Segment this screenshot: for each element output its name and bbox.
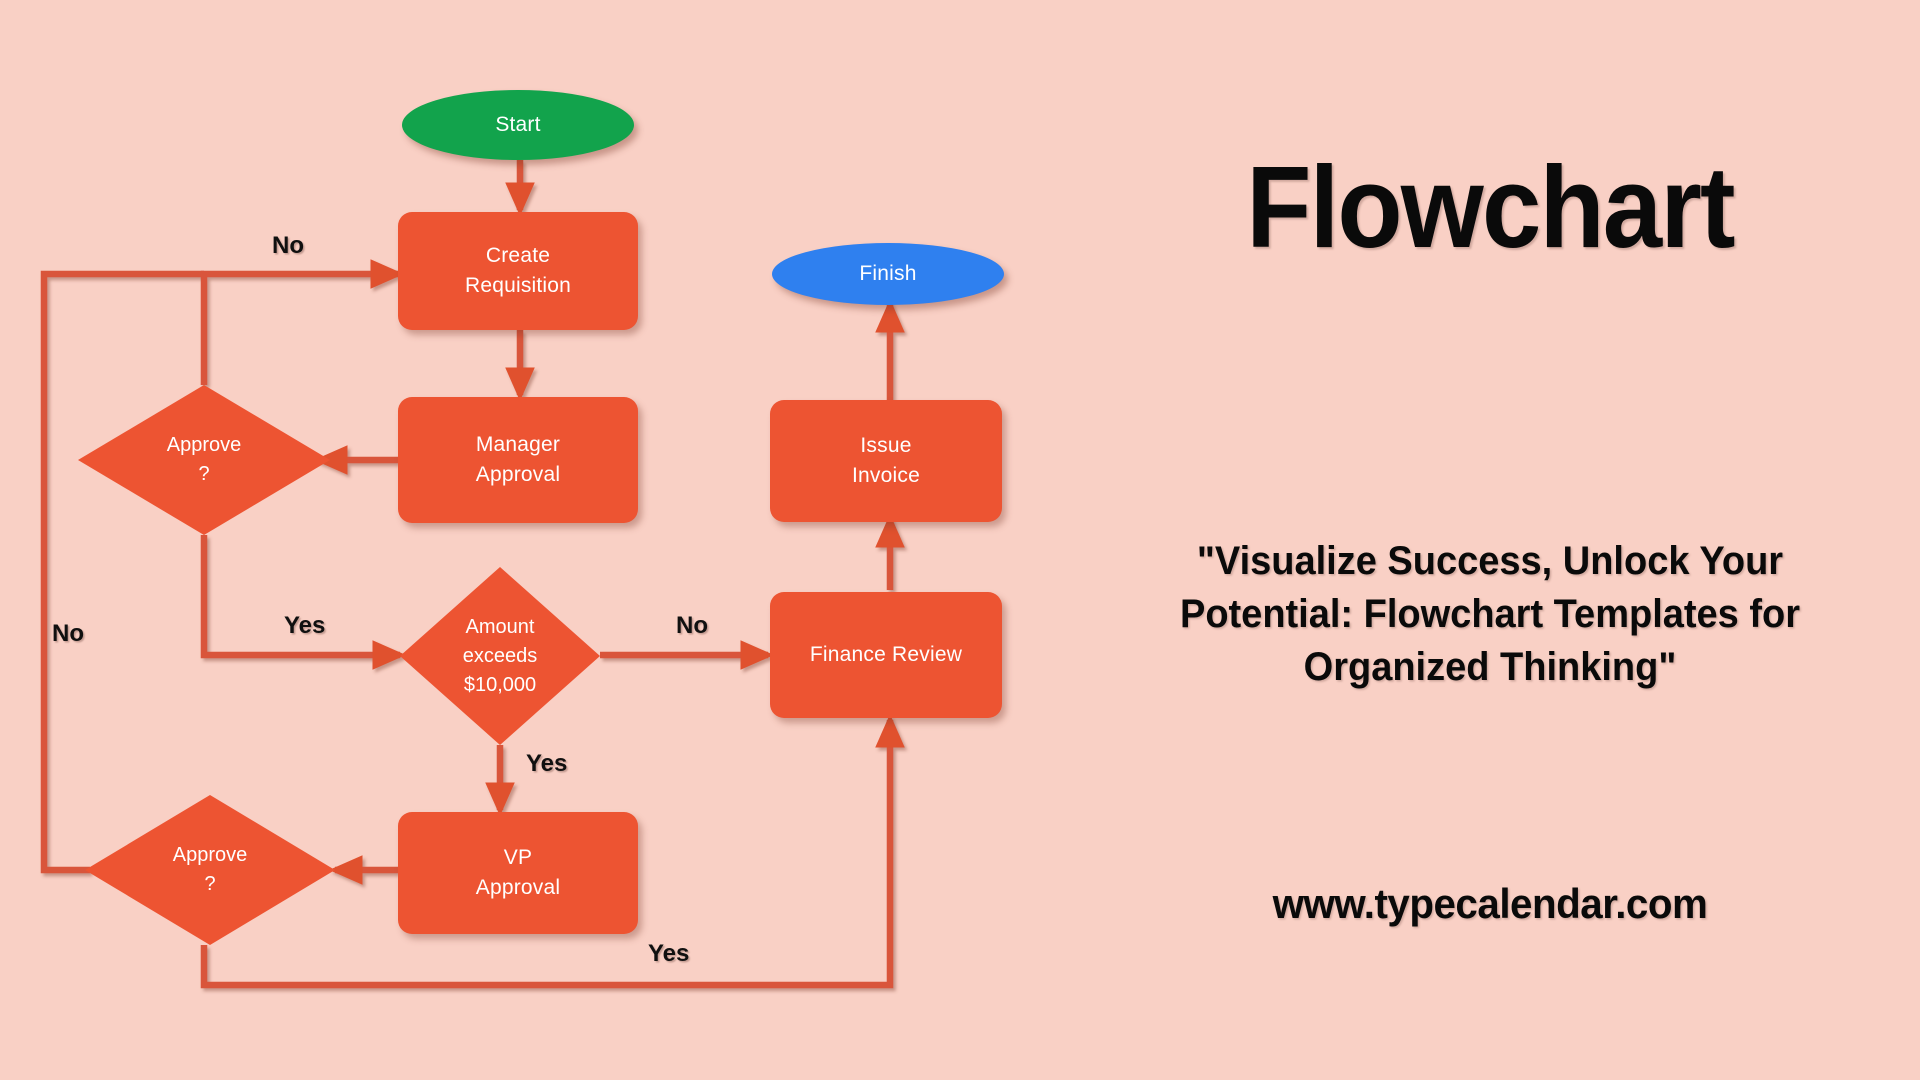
- page-title: Flowchart: [1094, 140, 1885, 274]
- poster-text-panel: Flowchart "Visualize Success, Unlock You…: [1060, 0, 1920, 1080]
- node-manager-approval[interactable]: Manager Approval: [398, 397, 638, 523]
- node-approve-decision-2-label: Approve ?: [85, 795, 335, 945]
- node-issue-invoice[interactable]: Issue Invoice: [770, 400, 1002, 522]
- edge-label-approve1-no: No: [272, 232, 304, 260]
- node-finance-review[interactable]: Finance Review: [770, 592, 1002, 718]
- node-approve-decision-1[interactable]: Approve ?: [78, 385, 330, 535]
- edge-label-amount-yes: Yes: [526, 750, 567, 778]
- edge-label-amount-no: No: [676, 612, 708, 640]
- website-url: www.typecalendar.com: [1077, 880, 1903, 928]
- node-amount-decision[interactable]: Amount exceeds $10,000: [400, 567, 600, 745]
- edge-approve2-no: [44, 274, 204, 870]
- edge-label-approve1-yes: Yes: [284, 612, 325, 640]
- node-vp-approval[interactable]: VP Approval: [398, 812, 638, 934]
- node-amount-decision-label: Amount exceeds $10,000: [400, 567, 600, 745]
- node-approve-decision-1-label: Approve ?: [78, 385, 330, 535]
- tagline-text: "Visualize Success, Unlock Your Potentia…: [1118, 535, 1863, 695]
- flowchart-diagram: Start Create Requisition Manager Approva…: [0, 0, 1060, 1020]
- poster-canvas: Start Create Requisition Manager Approva…: [0, 0, 1920, 1080]
- node-create-requisition[interactable]: Create Requisition: [398, 212, 638, 330]
- node-finish[interactable]: Finish: [772, 243, 1004, 305]
- node-approve-decision-2[interactable]: Approve ?: [85, 795, 335, 945]
- edge-label-approve2-no: No: [52, 620, 84, 648]
- node-start[interactable]: Start: [402, 90, 634, 160]
- edge-label-approve2-yes: Yes: [648, 940, 689, 968]
- edge-approve1-no: [204, 274, 398, 385]
